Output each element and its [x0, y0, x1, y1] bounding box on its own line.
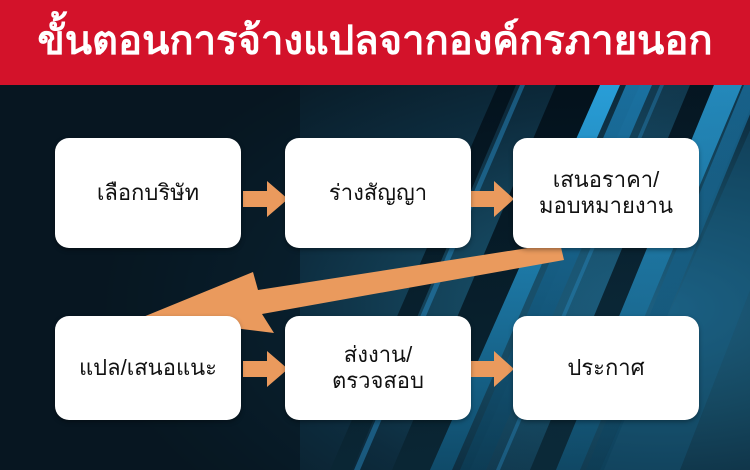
arrow-4-5 — [243, 350, 289, 388]
flow-node-step-2[interactable]: ร่างสัญญา — [285, 138, 471, 248]
flow-node-step-6[interactable]: ประกาศ — [513, 316, 699, 420]
flow-node-step-2-label: ร่างสัญญา — [329, 180, 427, 206]
flow-node-step-3[interactable]: เสนอราคา/ มอบหมายงาน — [513, 138, 699, 248]
flow-node-step-4-label: แปล/เสนอแนะ — [79, 355, 217, 381]
slide-canvas: เลือกบริษัท ร่างสัญญา เสนอราคา/ มอบหมายง… — [0, 0, 750, 470]
flow-node-step-1[interactable]: เลือกบริษัท — [55, 138, 241, 248]
flow-node-step-3-label: เสนอราคา/ มอบหมายงาน — [539, 167, 673, 219]
arrow-1-2 — [243, 180, 289, 218]
title-banner: ขั้นตอนการจ้างแปลจากองค์กรภายนอก — [0, 0, 750, 85]
flow-node-step-4[interactable]: แปล/เสนอแนะ — [55, 316, 241, 420]
arrow-2-3 — [471, 180, 515, 218]
flow-node-step-5[interactable]: ส่งงาน/ ตรวจสอบ — [285, 316, 471, 420]
flow-node-step-6-label: ประกาศ — [567, 355, 644, 381]
arrow-5-6 — [471, 350, 515, 388]
flow-node-step-1-label: เลือกบริษัท — [97, 180, 199, 206]
flow-node-step-5-label: ส่งงาน/ ตรวจสอบ — [332, 342, 424, 394]
page-title: ขั้นตอนการจ้างแปลจากองค์กรภายนอก — [0, 0, 750, 85]
